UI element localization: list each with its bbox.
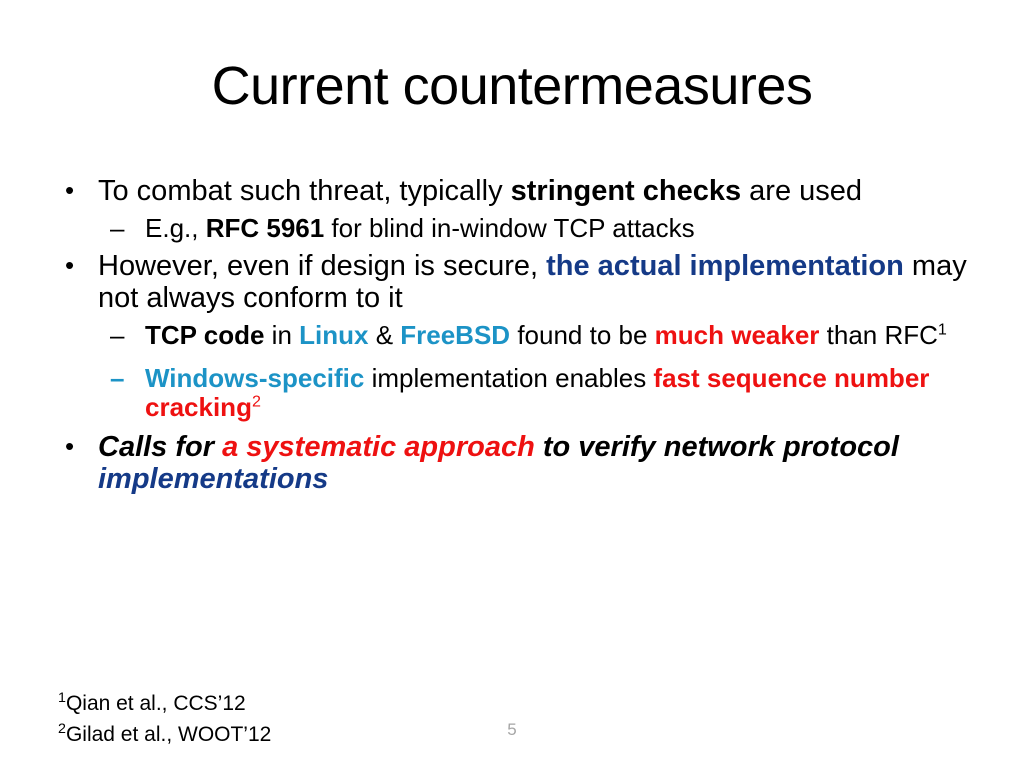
- sub-bullet-item-windows-specific: – Windows-specific implementation enable…: [110, 364, 988, 422]
- bullet-text-run: Calls for: [98, 431, 222, 463]
- bullet-text-run: are used: [741, 175, 862, 207]
- sub-bullet-text-run: implementation enables: [364, 363, 653, 393]
- bullet-text-emphasis-stringent-checks: stringent checks: [511, 175, 741, 207]
- footnote-marker: 1: [58, 690, 66, 706]
- footnote-line-1: 1Qian et al., CCS’12: [58, 689, 271, 719]
- bullet-dot-icon: •: [65, 432, 74, 462]
- bullet-item-combat-threat: • To combat such threat, typically strin…: [58, 176, 988, 208]
- bullet-item-calls-for-approach: • Calls for a systematic approach to ver…: [58, 432, 988, 496]
- bullet-dot-icon: •: [65, 251, 74, 281]
- sub-bullet-text-emphasis-much-weaker: much weaker: [655, 320, 820, 350]
- bullet-item-design-secure: • However, even if design is secure, the…: [58, 251, 988, 315]
- sub-bullet-text-run: for blind in-window TCP attacks: [324, 213, 694, 243]
- bullet-dot-icon: •: [65, 176, 74, 206]
- slide-body: • To combat such threat, typically strin…: [58, 176, 988, 496]
- sub-bullet-text-emphasis-rfc: RFC 5961: [206, 213, 325, 243]
- sub-bullet-text-emphasis-linux: Linux: [299, 320, 368, 350]
- footnote-text: Qian et al., CCS’12: [66, 692, 246, 715]
- sub-bullet-text-run: in: [264, 320, 299, 350]
- bullet-text-run: To combat such threat, typically: [98, 175, 511, 207]
- footnote-ref-2: 2: [252, 392, 261, 410]
- bullet-text-run: to verify network protocol: [535, 431, 899, 463]
- sub-bullet-text-emphasis-freebsd: FreeBSD: [400, 320, 510, 350]
- dash-icon: –: [110, 321, 124, 350]
- footnote-ref-1: 1: [938, 320, 947, 338]
- sub-bullet-text-run: than RFC: [819, 320, 938, 350]
- page-number: 5: [0, 720, 1024, 740]
- sub-bullet-text-emphasis-windows-specific: Windows-specific: [145, 363, 364, 393]
- sub-bullet-text-run: &: [368, 320, 400, 350]
- dash-icon: –: [110, 364, 124, 393]
- bullet-text-emphasis-actual-implementation: the actual implementation: [546, 250, 904, 282]
- bullet-text-emphasis-systematic-approach: a systematic approach: [222, 431, 535, 463]
- bullet-text-emphasis-implementations: implementations: [98, 463, 328, 495]
- slide-canvas: Current countermeasures • To combat such…: [0, 0, 1024, 768]
- sub-bullet-item-rfc-5961: – E.g., RFC 5961 for blind in-window TCP…: [110, 214, 988, 243]
- bullet-text-run: However, even if design is secure,: [98, 250, 546, 282]
- dash-icon: –: [110, 214, 124, 243]
- slide-title: Current countermeasures: [0, 58, 1024, 115]
- sub-bullet-text-emphasis-tcp-code: TCP code: [145, 320, 264, 350]
- sub-bullet-text-run: E.g.,: [145, 213, 206, 243]
- sub-bullet-text-run: found to be: [510, 320, 655, 350]
- sub-bullet-item-tcp-code: – TCP code in Linux & FreeBSD found to b…: [110, 321, 988, 350]
